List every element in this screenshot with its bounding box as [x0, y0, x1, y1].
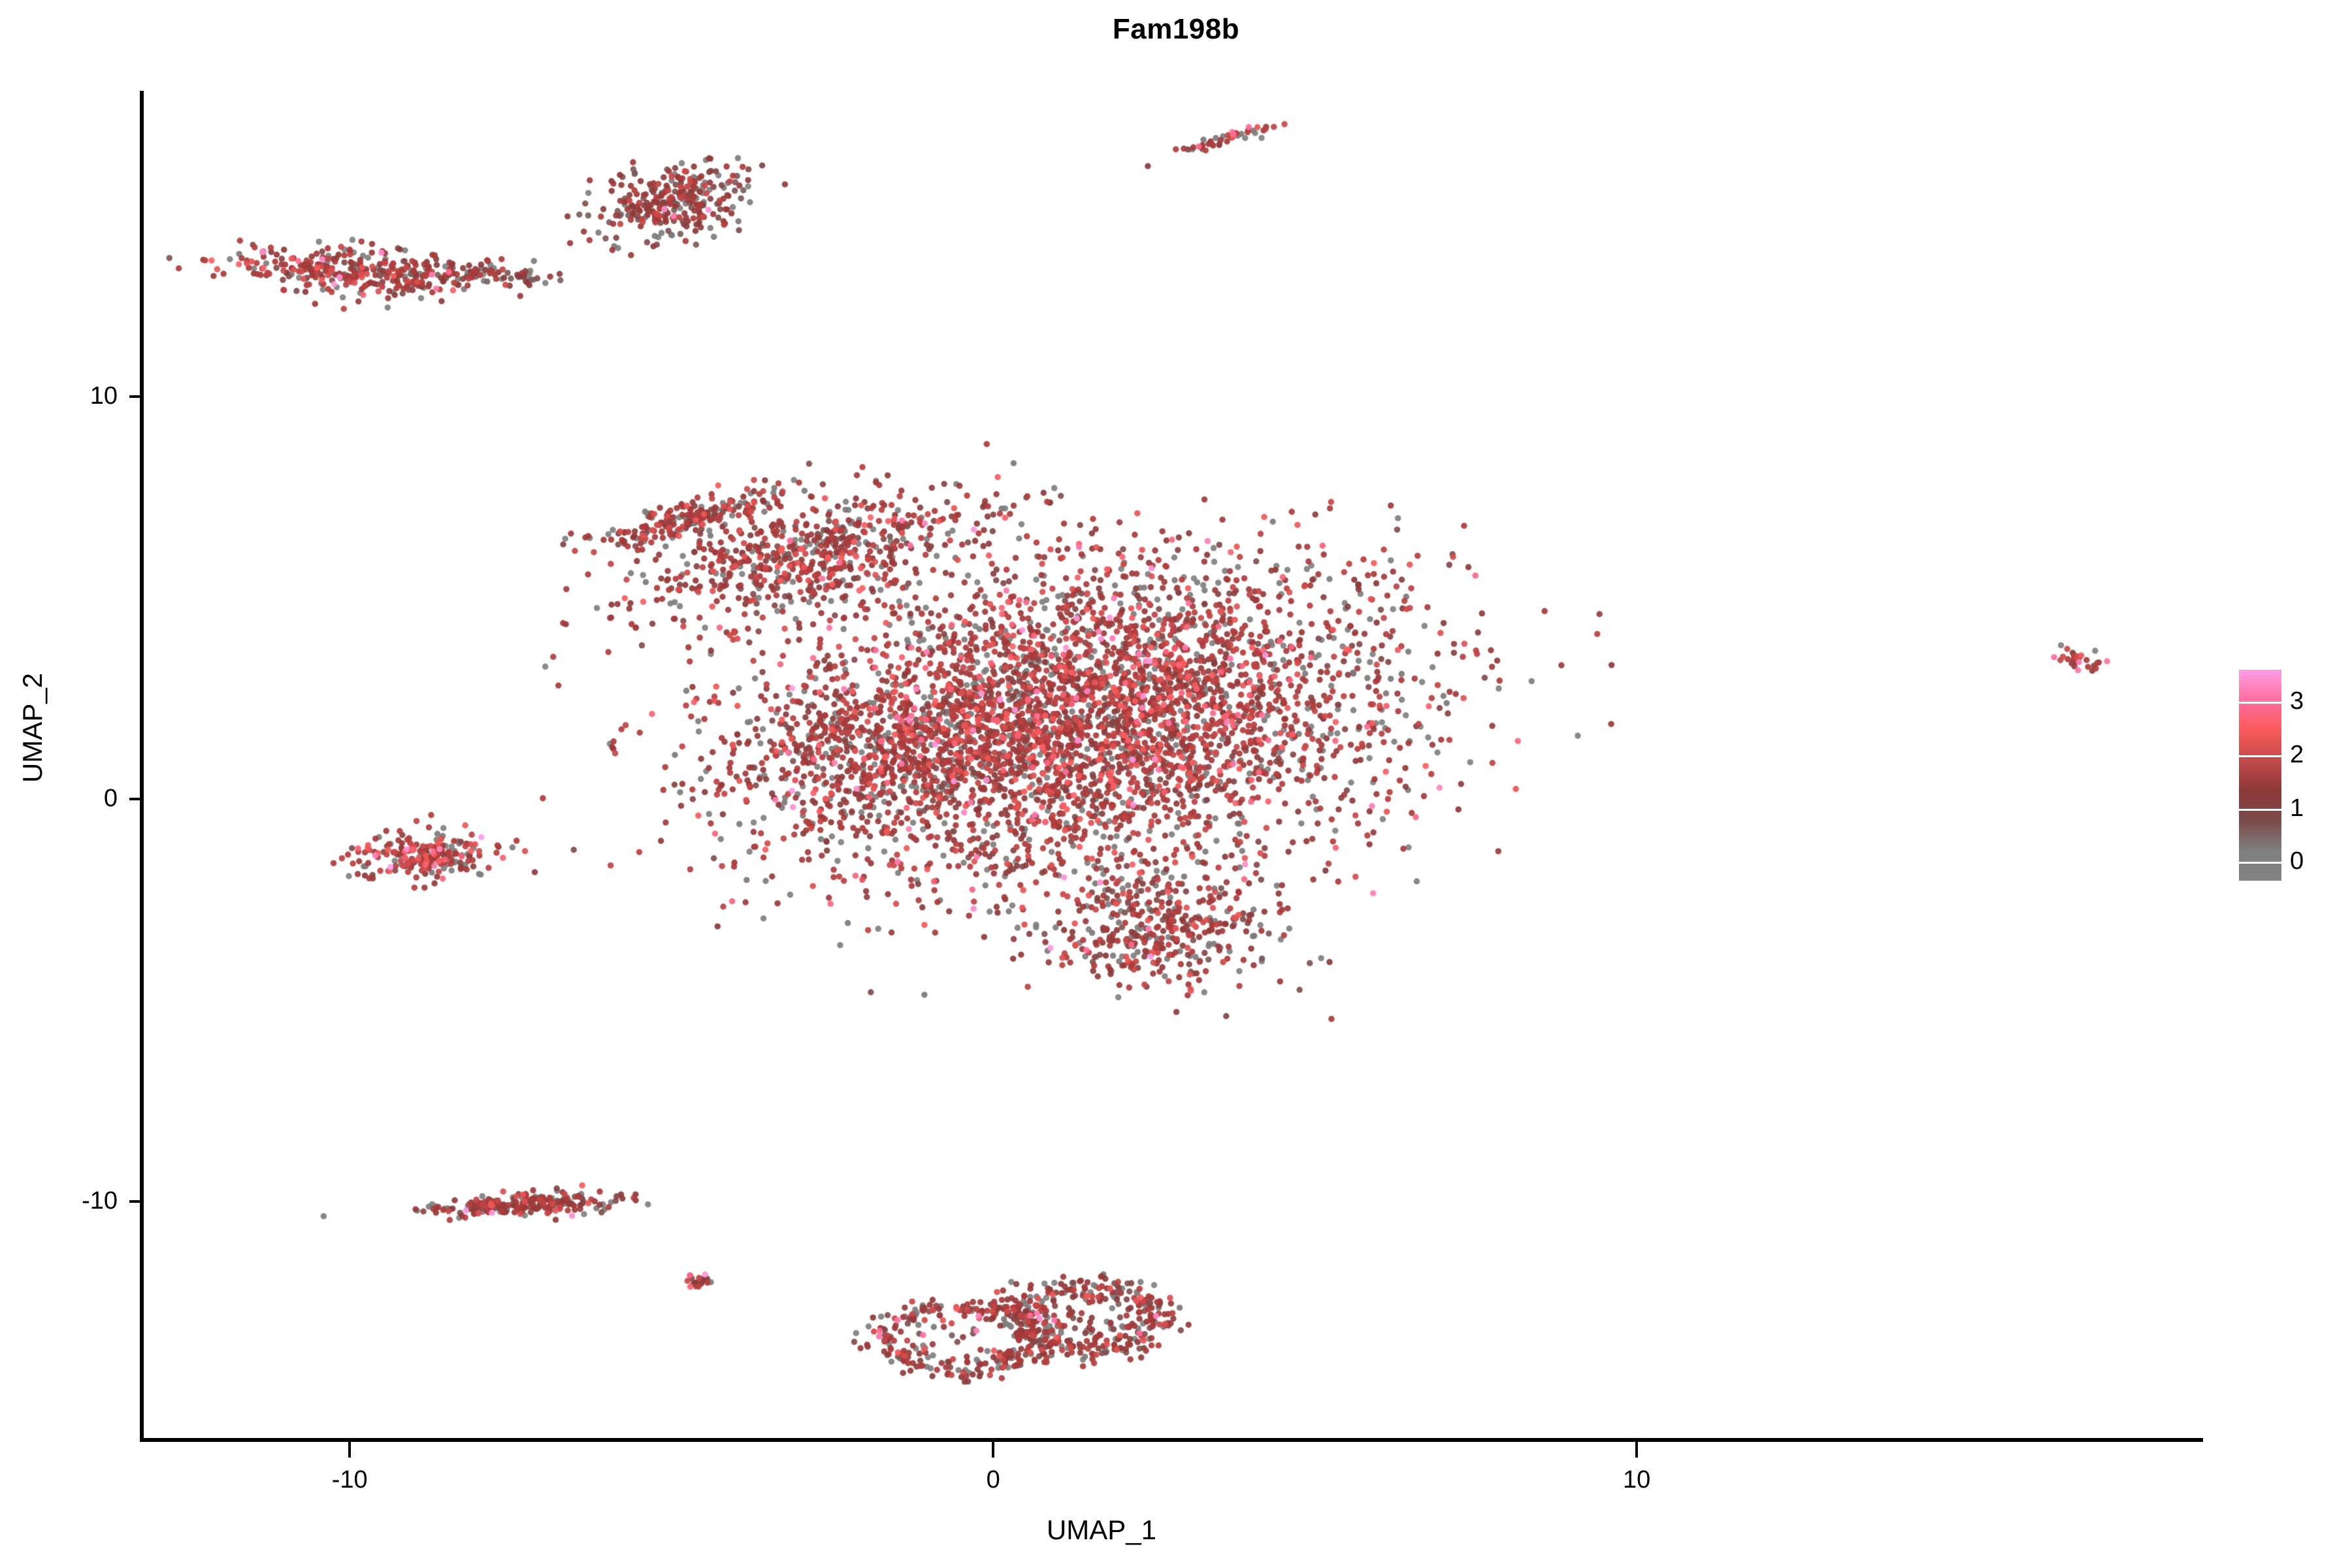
x-tick-label: -10 — [271, 1466, 428, 1494]
colorbar-legend: 3210 — [2239, 670, 2350, 885]
colorbar-tick-label: 1 — [2290, 796, 2304, 821]
colorbar-tick-label: 2 — [2290, 742, 2304, 767]
y-tick-mark — [129, 798, 144, 800]
x-tick-mark — [348, 1442, 351, 1458]
colorbar-tick-label: 0 — [2290, 849, 2304, 874]
x-tick-mark — [992, 1442, 994, 1458]
y-tick-mark — [129, 1200, 144, 1203]
y-axis-line — [140, 91, 144, 1442]
page-title: Fam198b — [0, 13, 2352, 46]
x-tick-label: 0 — [915, 1466, 1071, 1494]
colorbar-tick-mark — [2239, 809, 2281, 811]
x-axis-line — [140, 1438, 2203, 1442]
x-axis-title: UMAP_1 — [0, 1514, 2203, 1546]
colorbar-tick-label: 3 — [2290, 689, 2304, 713]
colorbar-tick-mark — [2239, 862, 2281, 864]
plot-root: Fam198b 100-10 -10010 UMAP_1 UMAP_2 3210 — [0, 0, 2352, 1568]
colorbar-tick-mark — [2239, 702, 2281, 704]
y-tick-mark — [129, 395, 144, 398]
y-tick-label: -10 — [0, 1187, 118, 1215]
x-tick-mark — [1635, 1442, 1638, 1458]
scatter-canvas — [144, 91, 2203, 1439]
y-axis-title: UMAP_2 — [17, 525, 48, 930]
y-tick-label: 10 — [0, 382, 118, 410]
colorbar-tick-mark — [2239, 755, 2281, 757]
x-tick-label: 10 — [1558, 1466, 1715, 1494]
